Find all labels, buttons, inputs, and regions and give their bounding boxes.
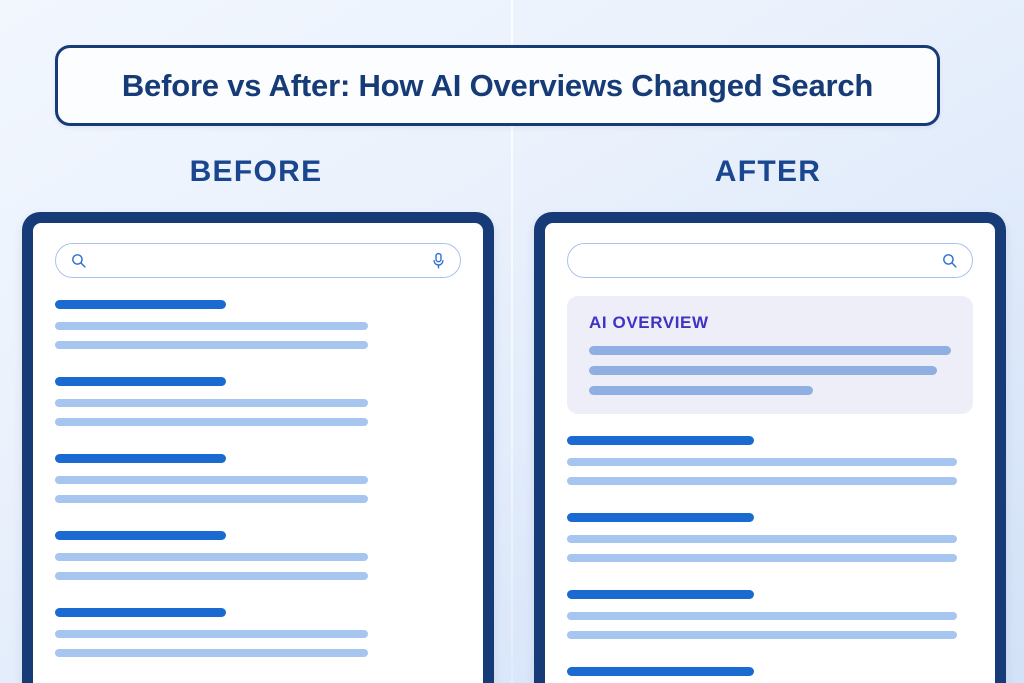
result-item[interactable] (55, 300, 461, 349)
result-text-line (55, 630, 368, 638)
infographic-canvas: Before vs After: How AI Overviews Change… (0, 0, 1024, 683)
page-title: Before vs After: How AI Overviews Change… (122, 68, 873, 104)
result-title-bar (55, 454, 226, 463)
phone-mockup-before (22, 212, 494, 683)
ai-overview-text-line (589, 366, 937, 375)
phone-mockup-after: AI OVERVIEW (534, 212, 1006, 683)
title-banner: Before vs After: How AI Overviews Change… (55, 45, 940, 126)
result-text-line (55, 553, 368, 561)
result-title-bar (567, 667, 754, 676)
search-icon[interactable] (941, 252, 958, 269)
result-item[interactable] (55, 454, 461, 503)
result-item[interactable] (55, 608, 461, 657)
result-text-line (55, 322, 368, 330)
result-text-line (567, 554, 957, 562)
column-heading-after: AFTER (512, 155, 1024, 189)
result-text-line (55, 495, 368, 503)
result-text-line (567, 612, 957, 620)
result-item[interactable] (567, 590, 973, 639)
ai-overview-text-line (589, 346, 951, 355)
column-heading-before: BEFORE (0, 155, 512, 189)
result-item[interactable] (55, 377, 461, 426)
result-title-bar (567, 436, 754, 445)
ai-overview-text-line (589, 386, 813, 395)
result-title-bar (55, 608, 226, 617)
results-list-before (55, 300, 461, 657)
microphone-icon[interactable] (431, 252, 446, 270)
result-item[interactable] (567, 436, 973, 485)
result-item[interactable] (55, 531, 461, 580)
ai-overview-card: AI OVERVIEW (567, 296, 973, 414)
result-text-line (567, 477, 957, 485)
result-title-bar (567, 513, 754, 522)
result-text-line (55, 572, 368, 580)
result-text-line (55, 418, 368, 426)
result-text-line (567, 458, 957, 466)
result-item[interactable] (567, 513, 973, 562)
phone-screen-after: AI OVERVIEW (545, 223, 995, 683)
result-text-line (567, 631, 957, 639)
result-text-line (55, 476, 368, 484)
search-bar-before[interactable] (55, 243, 461, 278)
result-item[interactable] (567, 667, 973, 683)
search-icon (70, 252, 87, 269)
results-list-after (567, 436, 973, 683)
result-title-bar (55, 300, 226, 309)
phone-screen-before (33, 223, 483, 683)
ai-overview-label: AI OVERVIEW (589, 313, 951, 333)
result-title-bar (567, 590, 754, 599)
result-title-bar (55, 377, 226, 386)
result-text-line (567, 535, 957, 543)
search-bar-after[interactable] (567, 243, 973, 278)
result-text-line (55, 341, 368, 349)
result-text-line (55, 649, 368, 657)
result-text-line (55, 399, 368, 407)
result-title-bar (55, 531, 226, 540)
